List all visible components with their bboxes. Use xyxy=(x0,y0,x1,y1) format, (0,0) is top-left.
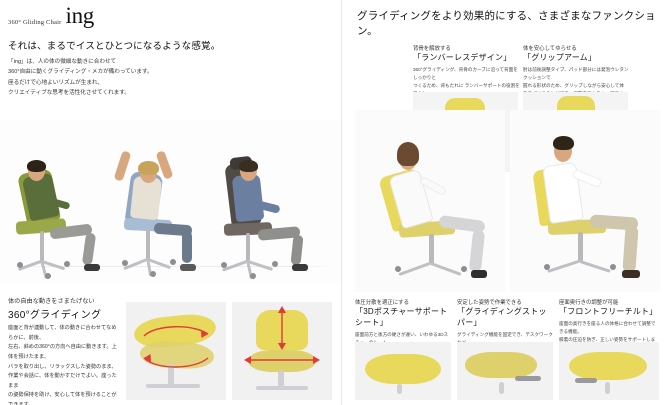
seat-tilt-photo xyxy=(126,302,226,400)
right-column: グライディングをより効果的にする、さまざまなファンクション。 背骨を解放する 「… xyxy=(345,0,670,405)
front-free-tilt-photo xyxy=(559,342,659,400)
brand-name: ing xyxy=(66,4,95,27)
gliding-body-line: バラを取り出し、リラックスした姿勢のまま、 xyxy=(8,363,118,373)
tilt-arrow-icon xyxy=(232,302,332,400)
chair-caster xyxy=(610,264,616,270)
chair-post xyxy=(397,384,402,394)
intro-body: 「ing」は、人の体の微細な動きに合わせて 360°自由に動くグライディング・メ… xyxy=(8,57,183,98)
chair-caster xyxy=(170,259,176,265)
chair-caster xyxy=(250,273,256,279)
feature-label-small: 体を安心してゆらせる xyxy=(523,44,633,52)
person-hair xyxy=(239,160,258,172)
gliding-body: 座面と背が連動して、体の動きに合わせてなめらかに、前後、 左右、斜めの360°の… xyxy=(8,324,118,405)
chair-post xyxy=(40,231,44,263)
catalog-page: 360° Gliding Chair ing それは、まるでイスとひとつになるよ… xyxy=(0,0,670,405)
chair-caster xyxy=(272,261,278,267)
man-seated-photo xyxy=(510,110,660,292)
gliding-stopper-photo xyxy=(457,342,553,400)
person-shoe xyxy=(292,264,308,271)
person-shoe xyxy=(622,270,640,278)
intro-body-line: 座るだけで心地よいリズムが生まれ、 xyxy=(8,78,183,88)
feature-label-large: 「ランバーレスデザイン」 xyxy=(413,52,521,63)
intro-body-line: クリエイティブな思考を活性化させてくれます。 xyxy=(8,88,183,98)
person-hair xyxy=(27,160,46,172)
lead-headline: それは、まるでイスとひとつになるような感覚。 xyxy=(8,38,220,52)
rotation-arrow-icon xyxy=(126,302,226,400)
chair-post xyxy=(605,382,610,394)
chair-base-leg xyxy=(248,260,274,270)
seat-shape xyxy=(569,352,647,380)
feature-label-small: 背骨を解放する xyxy=(413,44,521,52)
feature-label-large: 「3Dポスチャーサポートシート」 xyxy=(355,306,451,328)
person-hair xyxy=(138,161,159,175)
feature-label-small: 座面奥行きの調整が可能 xyxy=(559,298,659,306)
backrest-motion-photo xyxy=(232,302,332,400)
tilt-lever-shape xyxy=(575,378,597,383)
seat-shape xyxy=(465,352,537,378)
gliding-label-large: 360°グライディング xyxy=(8,306,101,321)
chair-caster xyxy=(17,262,23,268)
chair-caster xyxy=(221,262,227,268)
person-shoe xyxy=(471,270,487,278)
chair-caster xyxy=(461,266,467,272)
stopper-lever-shape xyxy=(515,376,541,381)
intro-body-line: 「ing」は、人の体の微細な動きに合わせて xyxy=(8,57,183,67)
seat-cushion-shape xyxy=(365,354,441,384)
chair-post xyxy=(578,232,583,262)
gliding-body-line: 作業や会話に、体を動かすだけでよい。座ったまま xyxy=(8,372,118,391)
chair-post xyxy=(146,229,150,261)
woman-reclining-photo xyxy=(355,110,505,292)
feature-body-line: 座面の奥行きを座る人の体格に合わせて調整できる機能。 xyxy=(559,320,659,336)
gliding-label-small: 体の自由な動きをさまたげない xyxy=(8,296,95,305)
brand-logo: 360° Gliding Chair ing xyxy=(8,4,94,27)
person-leg xyxy=(290,235,303,266)
intro-body-line: 360°自由に動くグライディング・メカが備わっています。 xyxy=(8,67,183,77)
feature-label-small: 体圧分散を適正にする xyxy=(355,298,451,306)
chair-caster xyxy=(150,271,156,277)
person-hair xyxy=(553,136,574,150)
chair-caster xyxy=(544,264,550,270)
feature-body-line: 肘は前後調整タイプ、パッド部分には発泡ウレタンクッションで xyxy=(523,66,633,82)
chair-caster xyxy=(64,261,70,267)
gliding-body-line: 座面と背が連動して、体の動きに合わせてなめらかに、前後、 xyxy=(8,324,118,343)
feature-label-small: 安定した姿勢で作業できる xyxy=(457,298,553,306)
feature-grip-arm: 体を安心してゆらせる 「グリップアーム」 肘は前後調整タイプ、パッド部分には発泡… xyxy=(523,44,633,98)
person-leg xyxy=(82,232,96,265)
person-shoe xyxy=(84,264,100,271)
person-hair xyxy=(397,142,419,166)
chair-post xyxy=(246,233,250,263)
person-shoe xyxy=(180,264,196,271)
person-leg xyxy=(182,231,192,263)
people-photo-strip xyxy=(0,120,340,285)
chair-caster xyxy=(45,273,51,279)
feature-body-line: 360°グライディング、背骨のカーブに沿って背面をしっかりと xyxy=(413,66,521,82)
chair-caster xyxy=(122,260,128,266)
person-arm-raised xyxy=(114,150,132,181)
feature-label-large: 「グリップアーム」 xyxy=(523,52,633,63)
left-column: 360° Gliding Chair ing それは、まるでイスとひとつになるよ… xyxy=(0,0,340,405)
seat-cushion-photo xyxy=(355,342,451,400)
chair-post xyxy=(499,382,504,394)
brand-tagline: 360° Gliding Chair xyxy=(8,19,62,26)
column-divider xyxy=(341,0,342,405)
functions-heading: グライディングをより効果的にする、さまざまなファンクション。 xyxy=(357,8,670,38)
chair-caster xyxy=(395,266,401,272)
feature-label-large: 「フロントフリーチルト」 xyxy=(559,306,659,317)
gliding-body-line: 左右、斜めの360°の方向へ自由に動きます。上体を預けたまま、 xyxy=(8,343,118,362)
chair-post xyxy=(429,234,434,264)
feature-label-large: 「グライディングストッパー」 xyxy=(457,306,553,328)
feature-body-line: 握れる形状のため、グリップしながら安心して体 xyxy=(523,82,633,90)
gliding-body-line: の姿勢保持を助け、安心して体を預けることができます。 xyxy=(8,391,118,405)
